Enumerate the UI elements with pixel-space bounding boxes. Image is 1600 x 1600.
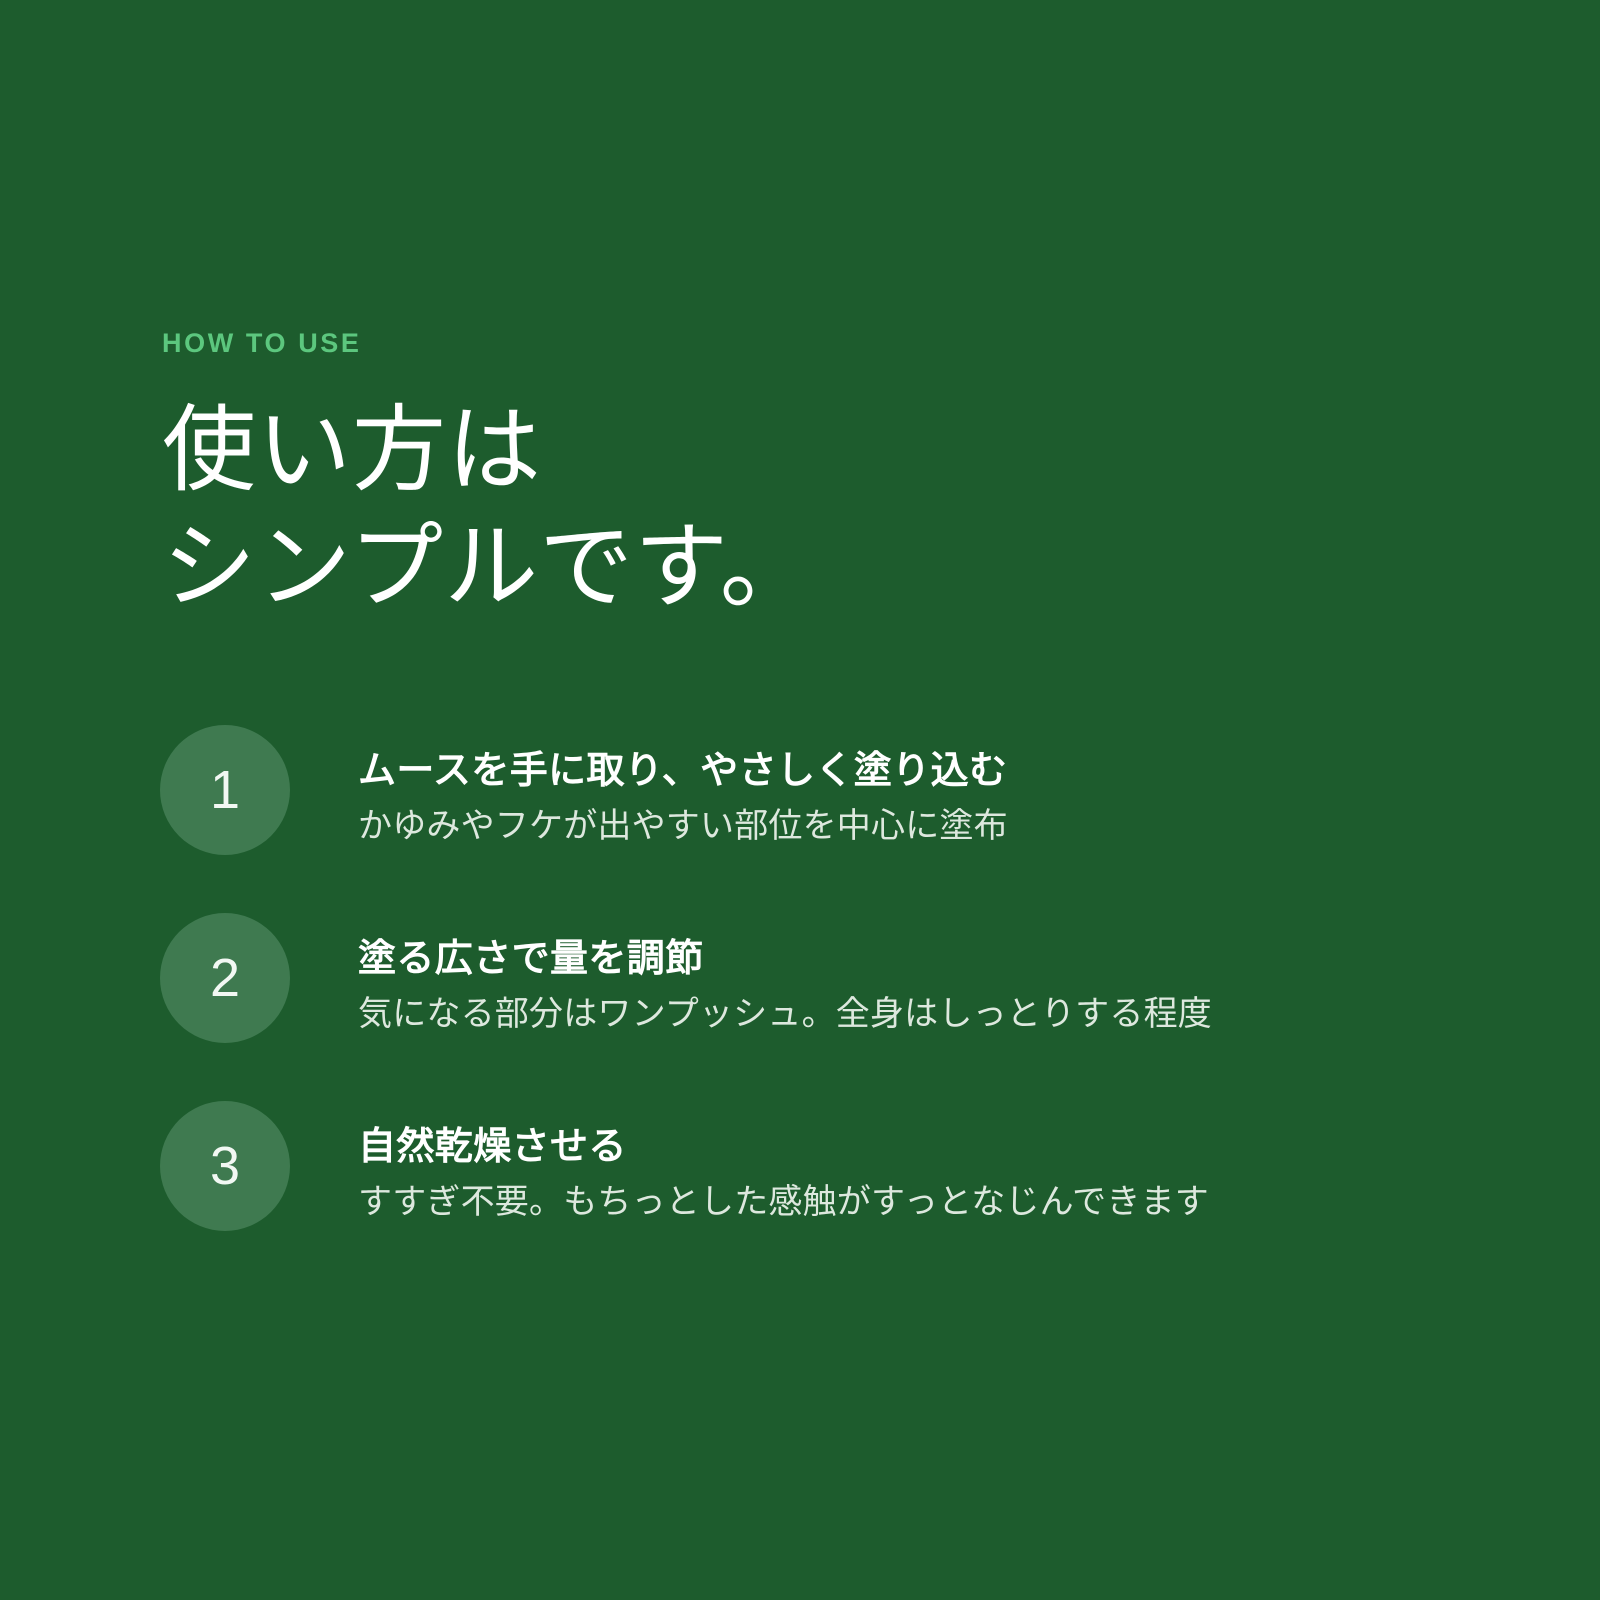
page-title: 使い方は シンプルです。 [162,393,1442,626]
step-number-badge: 3 [160,1101,290,1231]
list-item: 3 自然乾燥させる すすぎ不要。もちっとした感触がすっとなじんできます [160,1101,1460,1231]
step-description: 気になる部分はワンプッシュ。全身はしっとりする程度 [358,992,1460,1038]
step-title: 自然乾燥させる [358,1123,1460,1172]
headline-line-2: シンプルです。 [162,510,1442,627]
step-description: すすぎ不要。もちっとした感触がすっとなじんできます [358,1180,1460,1226]
step-title: 塗る広さで量を調節 [358,935,1460,984]
step-title: ムースを手に取り、やさしく塗り込む [358,747,1460,796]
step-content: 塗る広さで量を調節 気になる部分はワンプッシュ。全身はしっとりする程度 [290,913,1460,1038]
step-number-label: 3 [210,1139,240,1193]
list-item: 1 ムースを手に取り、やさしく塗り込む かゆみやフケが出やすい部位を中心に塗布 [160,725,1460,855]
list-item: 2 塗る広さで量を調節 気になる部分はワンプッシュ。全身はしっとりする程度 [160,913,1460,1043]
section-eyebrow: HOW TO USE [162,330,1442,357]
step-number-badge: 2 [160,913,290,1043]
step-number-label: 2 [210,951,240,1005]
step-content: ムースを手に取り、やさしく塗り込む かゆみやフケが出やすい部位を中心に塗布 [290,725,1460,850]
steps-list: 1 ムースを手に取り、やさしく塗り込む かゆみやフケが出やすい部位を中心に塗布 … [160,725,1460,1231]
headline-line-1: 使い方は [162,393,1442,510]
how-to-use-slide: HOW TO USE 使い方は シンプルです。 1 ムースを手に取り、やさしく塗… [0,0,1600,1600]
header-block: HOW TO USE 使い方は シンプルです。 [162,330,1442,626]
step-number-label: 1 [210,763,240,817]
step-description: かゆみやフケが出やすい部位を中心に塗布 [358,804,1460,850]
step-number-badge: 1 [160,725,290,855]
step-content: 自然乾燥させる すすぎ不要。もちっとした感触がすっとなじんできます [290,1101,1460,1226]
